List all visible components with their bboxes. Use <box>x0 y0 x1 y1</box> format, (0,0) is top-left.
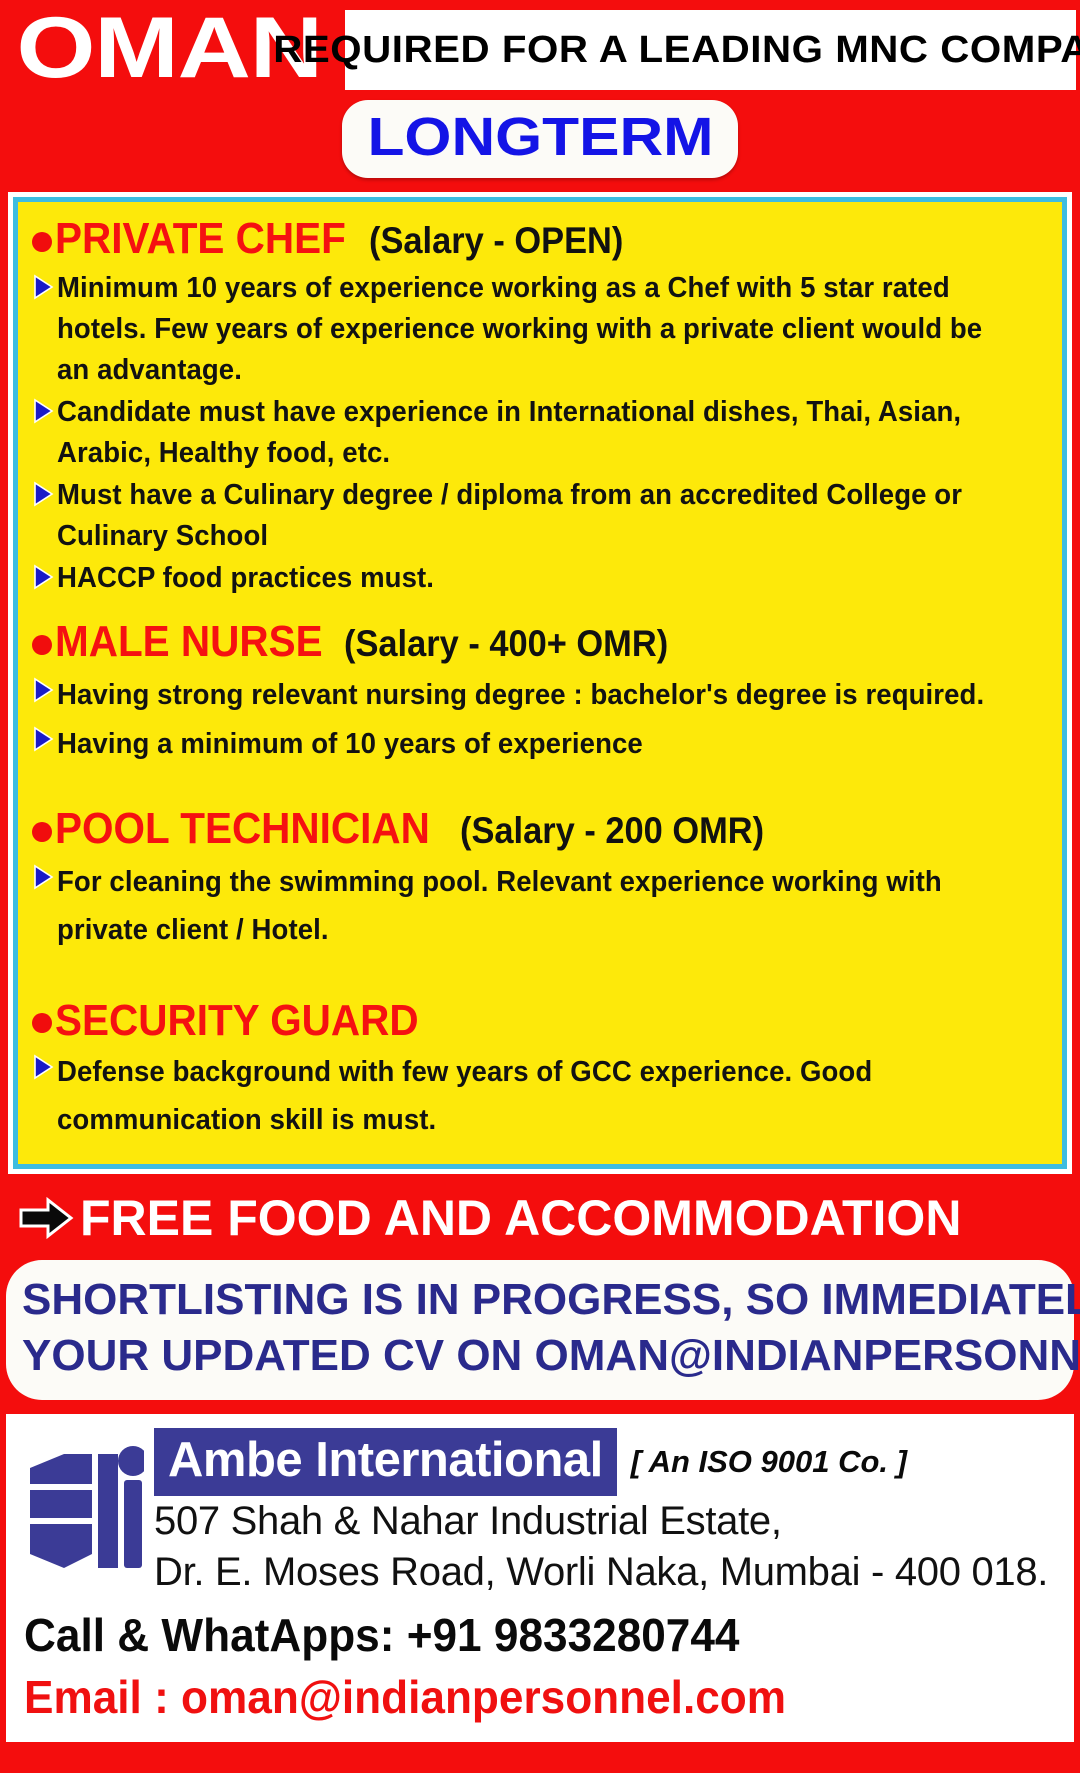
term-badge-wrap: LONGTERM <box>0 100 1080 178</box>
job-header: PRIVATE CHEF (Salary - OPEN) <box>32 214 1048 266</box>
requirement-text: HACCP food practices must. <box>57 558 434 599</box>
ambe-logo-icon <box>24 1428 144 1578</box>
spacer <box>32 770 1048 804</box>
bullet-dot-icon <box>32 822 52 842</box>
bullet-dot-icon <box>32 1013 52 1033</box>
requirement-item: Having strong relevant nursing degree : … <box>32 671 1048 719</box>
poster-header: OMAN REQUIRED FOR A LEADING MNC COMPANY <box>0 0 1080 96</box>
triangle-bullet-icon <box>32 1054 54 1080</box>
company-name-box: Ambe International <box>154 1428 617 1496</box>
triangle-bullet-icon <box>32 398 54 424</box>
job-advertisement-poster: OMAN REQUIRED FOR A LEADING MNC COMPANY … <box>0 0 1080 1773</box>
requirement-text: Having strong relevant nursing degree : … <box>57 671 984 719</box>
job-salary: (Salary - OPEN) <box>369 216 623 266</box>
requirement-item: For cleaning the swimming pool. Relevant… <box>32 858 1048 954</box>
agency-footer: Ambe International [ An ISO 9001 Co. ] 5… <box>6 1414 1074 1742</box>
right-arrow-icon <box>18 1196 74 1240</box>
benefits-row: FREE FOOD AND ACCOMMODATION <box>0 1174 1080 1258</box>
job-header: SECURITY GUARD <box>32 996 1048 1046</box>
triangle-bullet-icon <box>32 677 54 703</box>
jobs-panel: PRIVATE CHEF (Salary - OPEN) Minimum 10 … <box>18 202 1062 1164</box>
job-listing: MALE NURSE (Salary - 400+ OMR) Having st… <box>32 617 1048 768</box>
job-title: MALE NURSE <box>55 617 323 667</box>
requirement-text: For cleaning the swimming pool. Relevant… <box>57 858 998 954</box>
spacer <box>32 956 1048 996</box>
requirement-text: Defense background with few years of GCC… <box>57 1048 998 1144</box>
job-salary: (Salary - 400+ OMR) <box>344 619 668 669</box>
job-title: POOL TECHNICIAN <box>55 804 430 854</box>
iso-certification: [ An ISO 9001 Co. ] <box>631 1432 907 1492</box>
job-salary: (Salary - 200 OMR) <box>460 806 764 856</box>
requirement-text: Must have a Culinary degree / diploma fr… <box>57 475 998 557</box>
job-title: SECURITY GUARD <box>55 996 419 1046</box>
job-listing: PRIVATE CHEF (Salary - OPEN) Minimum 10 … <box>32 214 1048 599</box>
banner-line-2: YOUR UPDATED CV ON OMAN@INDIANPERSONNEL.… <box>22 1328 1058 1384</box>
brand-row: Ambe International [ An ISO 9001 Co. ] <box>154 1428 1062 1496</box>
job-header: POOL TECHNICIAN (Salary - 200 OMR) <box>32 804 1048 856</box>
jobs-panel-outer-border: PRIVATE CHEF (Salary - OPEN) Minimum 10 … <box>8 192 1072 1174</box>
job-header: MALE NURSE (Salary - 400+ OMR) <box>32 617 1048 669</box>
triangle-bullet-icon <box>32 864 54 890</box>
requirement-text: Having a minimum of 10 years of experien… <box>57 720 643 768</box>
triangle-bullet-icon <box>32 274 54 300</box>
requirement-item: Minimum 10 years of experience working a… <box>32 268 1048 391</box>
term-badge-label: LONGTERM <box>367 106 713 168</box>
email-address[interactable]: Email : oman@indianpersonnel.com <box>24 1666 1020 1728</box>
term-badge: LONGTERM <box>342 100 739 178</box>
jobs-panel-inner-border: PRIVATE CHEF (Salary - OPEN) Minimum 10 … <box>13 197 1067 1169</box>
banner-line-1: SHORTLISTING IS IN PROGRESS, SO IMMEDIAT… <box>22 1272 1058 1328</box>
requirement-item: Must have a Culinary degree / diploma fr… <box>32 475 1048 557</box>
triangle-bullet-icon <box>32 481 54 507</box>
agency-identity: Ambe International [ An ISO 9001 Co. ] 5… <box>24 1428 1062 1598</box>
requirement-text: Candidate must have experience in Intern… <box>57 392 998 474</box>
address-line-2: Dr. E. Moses Road, Worli Naka, Mumbai - … <box>154 1547 1062 1598</box>
tagline-box: REQUIRED FOR A LEADING MNC COMPANY <box>345 10 1076 90</box>
company-name: Ambe International <box>168 1433 603 1487</box>
shortlisting-banner: SHORTLISTING IS IN PROGRESS, SO IMMEDIAT… <box>6 1260 1074 1400</box>
address-line-1: 507 Shah & Nahar Industrial Estate, <box>154 1496 1062 1547</box>
spacer <box>32 601 1048 617</box>
requirement-item: HACCP food practices must. <box>32 558 1048 599</box>
job-listing: POOL TECHNICIAN (Salary - 200 OMR) For c… <box>32 804 1048 954</box>
bullet-dot-icon <box>32 232 52 252</box>
agency-details: Ambe International [ An ISO 9001 Co. ] 5… <box>154 1428 1062 1598</box>
bullet-dot-icon <box>32 635 52 655</box>
requirement-item: Having a minimum of 10 years of experien… <box>32 720 1048 768</box>
phone-number[interactable]: Call & WhatApps: +91 9833280744 <box>24 1604 1020 1666</box>
contact-block: Call & WhatApps: +91 9833280744 Email : … <box>24 1604 1062 1728</box>
triangle-bullet-icon <box>32 726 54 752</box>
requirement-item: Defense background with few years of GCC… <box>32 1048 1048 1144</box>
requirement-text: Minimum 10 years of experience working a… <box>57 268 998 391</box>
tagline-text: REQUIRED FOR A LEADING MNC COMPANY <box>274 29 1080 72</box>
requirement-item: Candidate must have experience in Intern… <box>32 392 1048 474</box>
job-listing: SECURITY GUARD Defense background with f… <box>32 996 1048 1144</box>
triangle-bullet-icon <box>32 564 54 590</box>
benefits-text: FREE FOOD AND ACCOMMODATION <box>80 1190 961 1246</box>
job-title: PRIVATE CHEF <box>55 214 346 264</box>
